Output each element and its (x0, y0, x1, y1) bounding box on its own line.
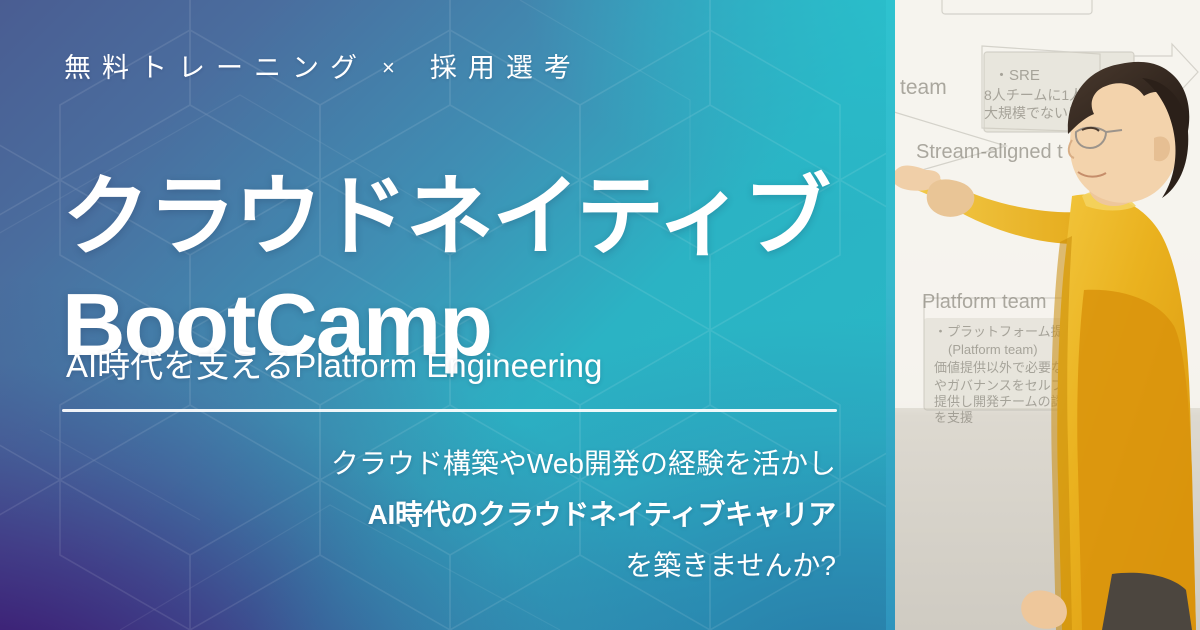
title-line-japanese: クラウドネイティブ (62, 163, 829, 271)
eyebrow-left-text: 無料トレーニング (64, 53, 368, 83)
body-copy: クラウド構築やWeb開発の経験を活かし AI時代のクラウドネイティブキャリア を… (136, 438, 836, 591)
svg-text:・SRE: ・SRE (994, 67, 1040, 84)
banner-content: 無料トレーニング×採用選考 クラウドネイティブ BootCamp AI時代を支え… (0, 0, 886, 630)
accent-bar (886, 0, 895, 630)
svg-text:team: team (900, 76, 947, 99)
promo-banner: 無料トレーニング×採用選考 クラウドネイティブ BootCamp AI時代を支え… (0, 0, 1200, 630)
eyebrow-right-text: 採用選考 (430, 53, 582, 83)
svg-text:Platform team: Platform team (922, 291, 1046, 313)
eyebrow-line: 無料トレーニング×採用選考 (64, 48, 582, 88)
divider-rule (62, 409, 837, 412)
subtitle: AI時代を支えるPlatform Engineering (66, 344, 602, 388)
svg-text:を支援: を支援 (934, 410, 973, 425)
presenter-photo: team ・SRE 8人チームに1人くらい 大規模でないければ不要 Stream… (886, 0, 1200, 630)
svg-text:(Platform team): (Platform team) (948, 342, 1038, 357)
photo-illustration: team ・SRE 8人チームに1人くらい 大規模でないければ不要 Stream… (886, 0, 1200, 630)
eyebrow-separator-icon: × (368, 48, 430, 88)
body-line-2-emphasis: AI時代のクラウドネイティブキャリア (136, 489, 836, 540)
body-line-3: を築きませんか? (136, 540, 836, 591)
body-line-1: クラウド構築やWeb開発の経験を活かし (136, 438, 836, 489)
gradient-background: 無料トレーニング×採用選考 クラウドネイティブ BootCamp AI時代を支え… (0, 0, 886, 630)
svg-text:Stream-aligned t: Stream-aligned t (916, 141, 1063, 163)
